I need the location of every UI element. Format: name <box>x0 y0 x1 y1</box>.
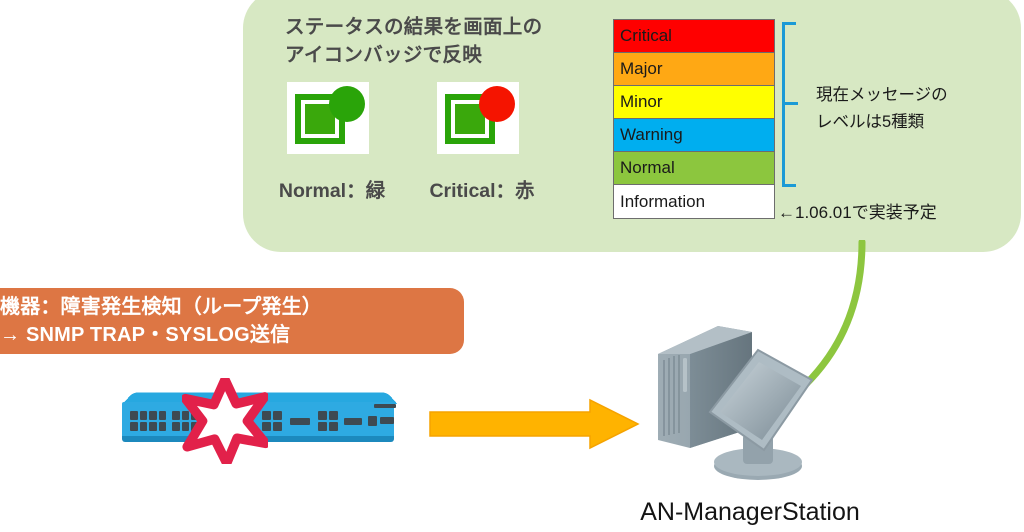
fault-starburst-icon <box>182 378 268 464</box>
switch-port <box>149 422 157 431</box>
switch-port <box>318 422 327 431</box>
information-note: ←1.06.01で実装予定 <box>778 198 937 223</box>
switch-port <box>318 411 327 420</box>
switch-port <box>273 422 282 431</box>
severity-label: Minor <box>620 92 663 112</box>
severity-row: Critical <box>614 20 774 53</box>
level-bracket-tick <box>782 102 798 105</box>
severity-label: Information <box>620 192 705 212</box>
fault-callout-box: 機器：障害発生検知（ループ発生） → SNMP TRAP・SYSLOG送信 <box>0 288 464 354</box>
switch-label-strip <box>380 417 394 424</box>
severity-row: Minor <box>614 86 774 119</box>
station-label: AN-ManagerStation <box>600 498 900 527</box>
switch-port <box>149 411 157 420</box>
badge-normal-label: Normal：緑 <box>262 174 402 203</box>
switch-vent <box>374 404 396 408</box>
badge-critical-label: Critical：赤 <box>412 174 552 203</box>
switch-port <box>130 422 138 431</box>
switch-port <box>172 411 180 420</box>
manager-station-icon <box>640 322 840 492</box>
severity-row: Normal <box>614 152 774 185</box>
severity-row: Information <box>614 185 774 218</box>
red-status-dot-icon <box>479 86 515 122</box>
severity-label: Critical <box>620 26 672 46</box>
switch-port <box>130 411 138 420</box>
switch-port <box>329 411 338 420</box>
port-bank <box>130 411 166 431</box>
badge-normal: Normal：緑 <box>287 82 377 154</box>
switch-port <box>329 422 338 431</box>
severity-label: Normal <box>620 158 675 178</box>
switch-port <box>273 411 282 420</box>
severity-label: Major <box>620 59 663 79</box>
switch-slot <box>344 418 362 425</box>
fault-callout-text: 機器：障害発生検知（ループ発生） → SNMP TRAP・SYSLOG送信 <box>0 294 322 349</box>
severity-label: Warning <box>620 125 683 145</box>
bracket-note: 現在メッセージの レベルは5種類 <box>816 82 1006 135</box>
switch-slot <box>290 418 310 425</box>
switch-port <box>172 422 180 431</box>
port-bank <box>318 411 338 431</box>
switch-port <box>159 422 167 431</box>
switch-port <box>140 411 148 420</box>
panel-heading: ステータスの結果を画面上の アイコンバッジで反映 <box>285 14 605 69</box>
normal-status-icon <box>287 82 369 154</box>
green-status-dot-icon <box>329 86 365 122</box>
severity-level-table: Critical Major Minor Warning Normal Info… <box>613 19 775 219</box>
switch-port <box>140 422 148 431</box>
badge-critical: Critical：赤 <box>437 82 527 154</box>
severity-row: Warning <box>614 119 774 152</box>
switch-port <box>159 411 167 420</box>
critical-status-icon <box>437 82 519 154</box>
data-flow-arrow-icon <box>428 398 640 450</box>
severity-row: Major <box>614 53 774 86</box>
switch-console-port <box>368 416 377 426</box>
